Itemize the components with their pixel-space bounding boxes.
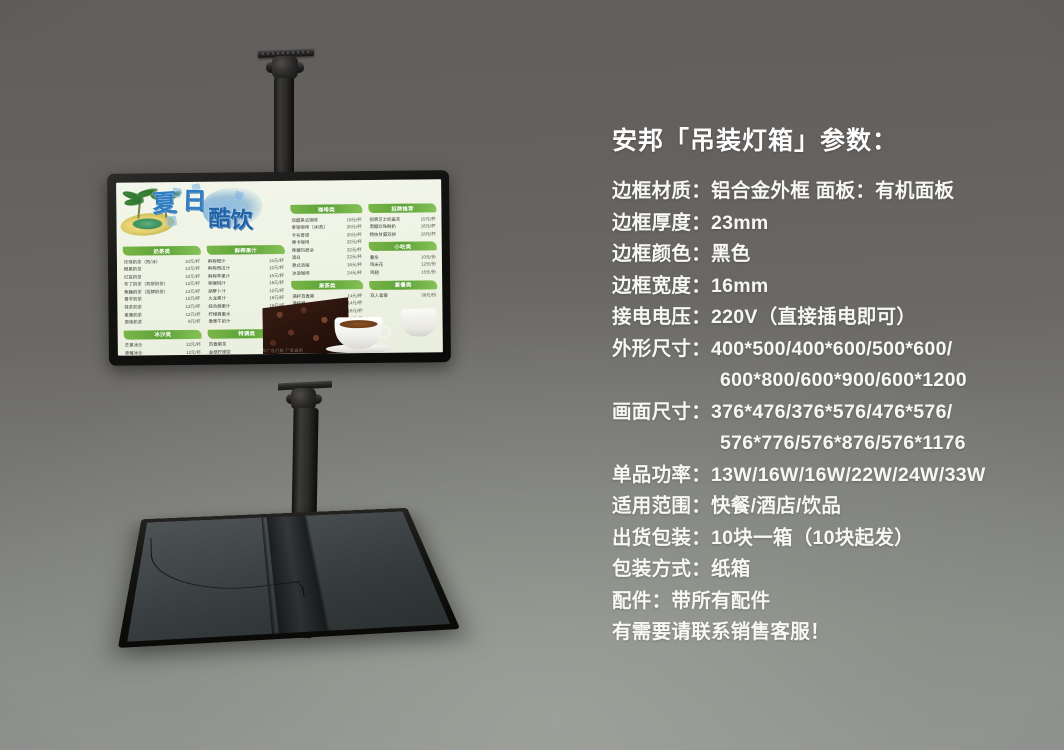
menu-item-name: 百香果茶: [209, 341, 227, 349]
menu-item-price: 15元/杯: [269, 256, 284, 264]
menu-board-screen: 夏 日 酷 饮 奶茶类珍珠奶茶（热/冰）10元/杯椰果奶茶10元/杯红豆奶茶10…: [116, 179, 443, 355]
lightbox-rear-panel: [118, 508, 460, 648]
coffee-photo: [262, 290, 443, 354]
menu-section-header: 奶茶类: [123, 246, 201, 256]
ball-joint-top: [272, 56, 298, 80]
menu-item-price: 10元/杯: [185, 265, 200, 273]
menu-item-price: 13元/杯: [185, 288, 200, 296]
menu-section-header: 冰沙类: [124, 330, 202, 340]
menu-item-price: 20元/杯: [347, 231, 362, 239]
menu-item-price: 22元/杯: [347, 246, 362, 254]
menu-item-name: 抹茶奶茶: [124, 303, 142, 311]
menu-item-name: 杨枝甘露双拼: [370, 230, 396, 238]
menu-section-header: 果茶类: [291, 280, 363, 290]
menu-column-d: 招牌推荐招牌芝士奶盖茶15元/杯黑糖珍珠鲜奶16元/杯杨枝甘露双拼18元/杯小吃…: [368, 203, 437, 303]
menu-section-header: 套餐类: [369, 280, 437, 290]
menu-item-price: 12元/杯: [269, 264, 284, 272]
menu-item-price: 10元/杯: [185, 273, 200, 281]
menu-item-name: 冰滴咖啡: [292, 269, 310, 277]
spec-line: 边框厚度：23mm: [612, 208, 1042, 240]
menu-item-price: 16元/杯: [347, 261, 362, 269]
spec-line: 外形尺寸：400*500/400*600/500*600/: [612, 334, 1042, 366]
menu-lightbox-frame: 夏 日 酷 饮 奶茶类珍珠奶茶（热/冰）10元/杯椰果奶茶10元/杯红豆奶茶10…: [107, 170, 451, 366]
menu-item-name: 卡布奇诺: [292, 231, 310, 239]
menu-item-price: 15元/杯: [421, 215, 436, 223]
menu-section-header-label: 招牌推荐: [391, 204, 413, 212]
menu-item-name: 焦糖奶茶（招牌奶茶）: [124, 288, 168, 296]
menu-item-name: 焦糖玛奇朵: [292, 247, 314, 255]
menu-item-row: 草莓冰沙12元/杯: [124, 349, 202, 356]
menu-item-price: 10元/杯: [185, 295, 200, 303]
spec-line: 边框材质：铝合金外框 面板：有机面板: [612, 176, 1042, 208]
menu-item-price: 24元/杯: [347, 269, 362, 277]
menu-item-name: 香芋奶茶: [124, 296, 142, 304]
spec-title: 安邦「吊装灯箱」参数：: [612, 124, 1042, 158]
menu-item-name: 胡萝卜汁: [208, 287, 226, 295]
menu-item-price: 12元/杯: [186, 310, 201, 318]
menu-column-a: 奶茶类珍珠奶茶（热/冰）10元/杯椰果奶茶10元/杯红豆奶茶10元/杯布丁奶茶（…: [123, 246, 202, 356]
spec-line: 576*776/576*876/576*1176: [612, 428, 1042, 460]
palm-frond-icon: [124, 197, 145, 206]
menu-item-name: 摩卡咖啡: [292, 239, 310, 247]
menu-item-price: 16元/杯: [269, 279, 284, 287]
menu-item-name: 香蕉牛奶汁: [209, 318, 231, 326]
menu-item-name: 鸡米花: [370, 261, 383, 269]
spec-line: 边框宽度：16mm: [612, 271, 1042, 303]
menu-item-price: 22元/杯: [347, 238, 362, 246]
lightbox-rear-frame: [118, 508, 460, 648]
menu-item-price: 10元/杯: [185, 257, 200, 265]
menu-section-header: 招牌推荐: [368, 203, 436, 213]
menu-item-name: 鲜榨橙汁: [208, 257, 226, 265]
banner-char-4: 饮: [230, 209, 252, 231]
menu-item-price: 18元/杯: [347, 216, 362, 224]
menu-item-price: 12元/份: [421, 261, 436, 269]
menu-section-header-label: 冰沙类: [154, 330, 171, 338]
menu-section-header-label: 鲜榨果汁: [235, 246, 257, 254]
menu-section-header-label: 奶茶类: [153, 247, 170, 255]
specification-panel: 安邦「吊装灯箱」参数： 边框材质：铝合金外框 面板：有机面板边框厚度：23mm边…: [612, 124, 1042, 649]
spec-line: 配件：带所有配件: [612, 586, 1042, 618]
menu-item-price: 16元/杯: [421, 222, 436, 230]
menu-section-header-label: 果茶类: [319, 281, 336, 289]
spec-line: 包装方式：纸箱: [612, 554, 1042, 586]
menu-item-price: 15元/份: [421, 268, 436, 276]
menu-item-name: 椰果奶茶: [124, 266, 142, 274]
menu-item-name: 薯条: [370, 254, 379, 262]
menu-section-header-label: 咖啡类: [318, 205, 335, 213]
menu-item-name: 拿铁咖啡（冰/热）: [292, 224, 328, 232]
menu-item-price: 18元/杯: [421, 230, 436, 238]
menu-section-header-label: 小吃类: [394, 242, 411, 250]
menu-item-price: 12元/杯: [186, 341, 201, 349]
menu-section-header-label: 特调类: [238, 330, 255, 338]
menu-item-price: 9元/杯: [188, 318, 201, 326]
spec-line: 600*800/600*900/600*1200: [612, 365, 1042, 397]
menu-item-name: 珍珠奶茶（热/冰）: [124, 258, 160, 266]
menu-item-name: 芒果冰沙: [125, 342, 143, 350]
spec-line: 适用范围：快餐/酒店/饮品: [612, 491, 1042, 523]
menu-item-name: 澳白: [292, 254, 301, 262]
coffee-cup-handle: [379, 325, 392, 339]
menu-item-price: 22元/杯: [347, 254, 362, 262]
spec-line: 出货包装：10块一箱（10块起发）: [612, 523, 1042, 555]
ice-cube-icon: [166, 215, 177, 226]
coffee-cup-back: [400, 308, 436, 336]
summer-drinks-banner: 夏 日 酷 饮: [116, 181, 265, 245]
spec-line: 单品功率：13W/16W/16W/22W/24W/33W: [612, 460, 1042, 492]
banner-char-2: 日: [182, 190, 207, 215]
menu-item-name: 鲜榨苹果汁: [208, 272, 230, 280]
menu-item-name: 金桔柠檬茶: [209, 348, 231, 355]
menu-item-price: 10元/份: [421, 253, 436, 261]
ceiling-mounted-lightbox-front: 夏 日 酷 饮 奶茶类珍珠奶茶（热/冰）10元/杯椰果奶茶10元/杯红豆奶茶10…: [0, 0, 560, 400]
spec-line: 接电电压：220V（直接插电即可）: [612, 302, 1042, 334]
menu-item-name: 火龙果汁: [208, 295, 226, 303]
menu-section-header-label: 套餐类: [395, 281, 412, 289]
menu-item-name: 草莓冰沙: [125, 349, 143, 355]
spec-line: 画面尺寸：376*476/376*576/476*576/: [612, 397, 1042, 429]
menu-item-price: 20元/杯: [347, 223, 362, 231]
menu-item-name: 鸡翅: [370, 269, 379, 277]
spec-line-list: 边框材质：铝合金外框 面板：有机面板边框厚度：23mm边框颜色：黑色边框宽度：1…: [612, 176, 1042, 649]
lightbox-rear-face: [127, 511, 450, 641]
banner-char-3: 酷: [208, 208, 230, 230]
banner-char-1: 夏: [152, 191, 177, 216]
menu-item-name: 红豆奶茶: [124, 273, 142, 281]
menu-item-name: 猕猴桃汁: [208, 280, 226, 288]
menu-item-price: 12元/杯: [185, 303, 200, 311]
menu-item-name: 原味奶茶: [125, 319, 143, 327]
product-photo-canvas: 夏 日 酷 饮 奶茶类珍珠奶茶（热/冰）10元/杯椰果奶茶10元/杯红豆奶茶10…: [0, 0, 1064, 750]
menu-item-price: 12元/杯: [185, 280, 200, 288]
menu-item-price: 12元/杯: [186, 349, 201, 356]
spec-line: 有需要请联系销售客服！: [612, 617, 1042, 649]
menu-section-header: 鲜榨果汁: [207, 245, 285, 255]
menu-item-name: 麦香奶茶: [124, 311, 142, 319]
spec-line: 边框颜色：黑色: [612, 239, 1042, 271]
menu-item-name: 意式浓缩: [292, 262, 310, 270]
menu-section-header: 小吃类: [369, 242, 437, 252]
menu-item-price: 15元/杯: [269, 272, 284, 280]
menu-section-header: 咖啡类: [290, 204, 362, 214]
menu-watermark: 安邦广告灯箱 厂家直销: [258, 347, 304, 353]
